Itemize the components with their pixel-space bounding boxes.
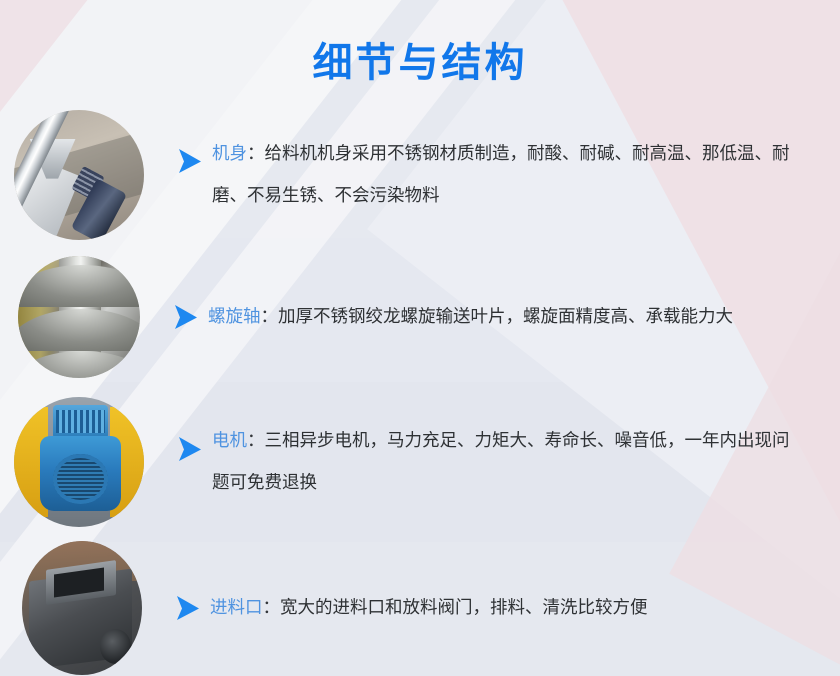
feature-label: 螺旋轴 xyxy=(208,307,261,327)
feature-row: 进料口：宽大的进料口和放料阀门，排料、清洗比较方便 xyxy=(0,540,840,675)
feature-row: 电机：三相异步电机，马力充足、力矩大、寿命长、噪音低，一年内出现问题可免费退换 xyxy=(0,392,840,532)
feature-label: 进料口 xyxy=(210,598,263,618)
feature-separator: ： xyxy=(263,598,281,618)
auger-screw-shaft-photo xyxy=(18,256,140,378)
feature-separator: ： xyxy=(261,307,279,327)
play-arrow-icon xyxy=(166,146,212,176)
stainless-screw-feeder-photo xyxy=(14,110,144,240)
feature-label: 电机 xyxy=(212,431,247,451)
feed-inlet-hopper-photo xyxy=(22,541,142,675)
feature-separator: ： xyxy=(247,144,265,164)
feature-row: 机身：给料机机身采用不锈钢材质制造，耐酸、耐碱、耐高温、那低温、耐磨、不易生锈、… xyxy=(0,110,840,240)
feature-label: 机身 xyxy=(212,144,247,164)
play-arrow-icon xyxy=(166,434,212,464)
product-detail-page: 细节与结构 机身：给料机机身采用不锈钢材质制造，耐酸、耐碱、耐高温、那低温、耐磨… xyxy=(0,0,840,676)
play-arrow-icon xyxy=(162,302,208,332)
feature-row: 螺旋轴：加厚不锈钢绞龙螺旋输送叶片，螺旋面精度高、承载能力大 xyxy=(0,254,840,379)
feature-description: 螺旋轴：加厚不锈钢绞龙螺旋输送叶片，螺旋面精度高、承载能力大 xyxy=(208,296,840,338)
page-title: 细节与结构 xyxy=(0,30,840,88)
feature-text: 加厚不锈钢绞龙螺旋输送叶片，螺旋面精度高、承载能力大 xyxy=(278,307,733,327)
feature-description: 机身：给料机机身采用不锈钢材质制造，耐酸、耐碱、耐高温、那低温、耐磨、不易生锈、… xyxy=(212,133,840,217)
feature-text: 三相异步电机，马力充足、力矩大、寿命长、噪音低，一年内出现问题可免费退换 xyxy=(212,431,790,493)
feature-text: 宽大的进料口和放料阀门，排料、清洗比较方便 xyxy=(280,598,648,618)
feature-text: 给料机机身采用不锈钢材质制造，耐酸、耐碱、耐高温、那低温、耐磨、不易生锈、不会污… xyxy=(212,144,790,206)
feature-description: 电机：三相异步电机，马力充足、力矩大、寿命长、噪音低，一年内出现问题可免费退换 xyxy=(212,420,840,504)
feature-separator: ： xyxy=(247,431,265,451)
feature-description: 进料口：宽大的进料口和放料阀门，排料、清洗比较方便 xyxy=(210,587,840,629)
play-arrow-icon xyxy=(164,593,210,623)
blue-electric-motor-photo xyxy=(14,397,144,527)
